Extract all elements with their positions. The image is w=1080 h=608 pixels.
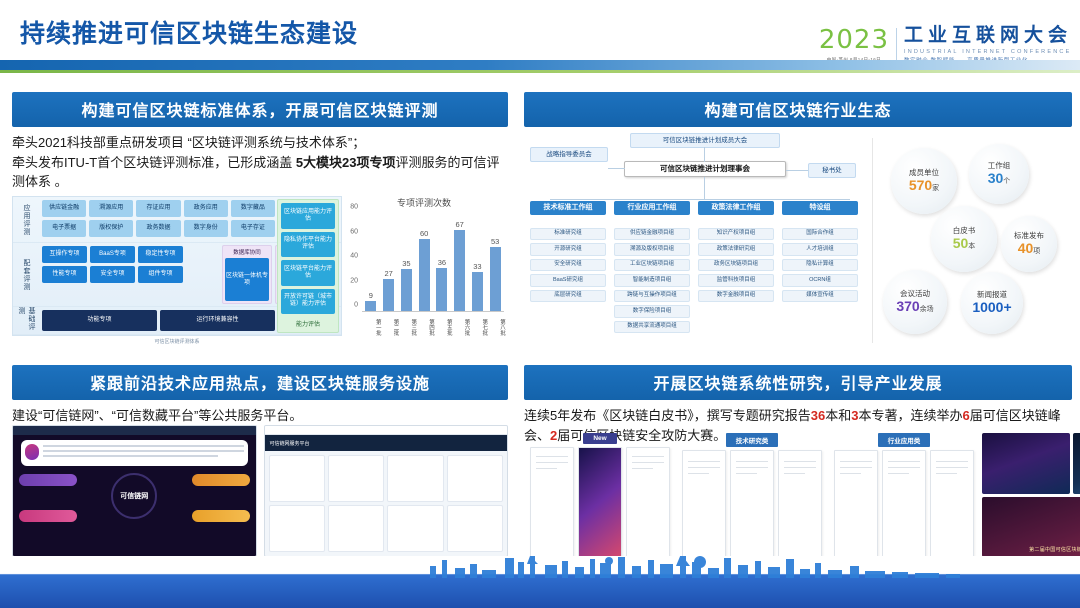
- panel-research-header: 开展区块链系统性研究，引导产业发展: [524, 365, 1072, 400]
- chart-bar-value: 67: [455, 220, 463, 229]
- chart-bar-column: 60: [415, 214, 433, 312]
- chart-y-tick: 60: [350, 228, 358, 235]
- skyline-icon: [0, 556, 1080, 608]
- matrix-caption: 可信区块链评测体系: [12, 338, 342, 345]
- chart-bar-value: 60: [420, 229, 428, 238]
- matrix-row-label: 基础评测: [13, 307, 39, 334]
- matrix-cell: 功能专项: [42, 310, 157, 331]
- matrix-row-label: 应用评测: [13, 197, 39, 242]
- matrix-cell: 电子存证: [231, 220, 275, 237]
- doc-cover[interactable]: [730, 450, 774, 557]
- org-group-item: 数字保险项目组: [614, 305, 690, 318]
- screenshot-node: [19, 510, 77, 522]
- stat-value: 50本: [953, 236, 976, 251]
- ability-item: 区块链应用能力评估: [281, 203, 335, 229]
- chart-y-tick: 40: [350, 253, 358, 260]
- logo-year: 2023: [819, 27, 889, 53]
- event-photo-caption: 第二届中国可信区块链安全攻防大赛: [982, 546, 1080, 553]
- matrix-cell: 运行环境兼容性: [160, 310, 275, 331]
- panel-ecosystem-header: 构建可信区块链行业生态: [524, 92, 1072, 127]
- chart-bar-value: 53: [491, 237, 499, 246]
- p4-a: 连续5年发布《区块链白皮书》，撰写专题研究报告: [524, 408, 811, 423]
- chart-bar-value: 9: [369, 291, 373, 300]
- matrix-cell: 数字藏品: [231, 200, 275, 217]
- research-outputs: New 技术研究类 行业应用类 第二届中国可信区块链安全攻防大赛: [530, 433, 1070, 557]
- ability-item: 隐私协作平台能力评估: [281, 232, 335, 258]
- chart-bar-value: 33: [473, 262, 481, 271]
- org-group-item: 智能制造项目组: [614, 274, 690, 287]
- panel-ecosystem: 构建可信区块链行业生态: [524, 92, 1072, 127]
- screenshot-avatar-icon: [25, 444, 39, 460]
- matrix-cell: 安全专项: [90, 266, 135, 283]
- org-group-item: 隐私计算组: [782, 259, 858, 272]
- evaluation-matrix: 应用评测 供应链金融 溯源应用 存证应用 政务应用 数字藏品 电子票据 版权保护…: [12, 196, 342, 336]
- org-group-item: 监管科技项目组: [698, 274, 774, 287]
- doc-cover[interactable]: [626, 447, 670, 557]
- screenshot-card: [328, 505, 384, 552]
- doc-row: [682, 450, 822, 557]
- chart-bar-column: 9: [362, 214, 380, 312]
- chart-title: 专项评测次数: [340, 196, 508, 209]
- matrix-row-label: 配套评测: [13, 243, 39, 306]
- screenshot-card: [328, 455, 384, 502]
- conference-logo: 2023 中国·苏州 8月14日-16日 工业互联网大会 INDUSTRIAL …: [819, 26, 1072, 64]
- matrix-cell: 政务应用: [184, 200, 228, 217]
- screenshot-titlebar: [13, 426, 256, 435]
- logo-year-block: 2023 中国·苏州 8月14日-16日: [819, 27, 889, 63]
- stat-unit: 个: [1003, 178, 1010, 185]
- matrix-cell: 存证应用: [136, 200, 180, 217]
- stat-label: 标准发布: [1014, 232, 1044, 240]
- p1-highlight: 5大模块23项专项: [296, 155, 396, 170]
- org-group-item: 国际合作组: [782, 228, 858, 241]
- stat-bubble: 白皮书50本: [931, 206, 997, 272]
- stat-unit: 余场: [920, 306, 934, 313]
- org-group-title: 技术标准工作组: [530, 201, 606, 215]
- screenshot-trusted-chain-network[interactable]: 可信链网: [12, 425, 257, 557]
- org-group-column: 政策法律工作组 知识产权项目组 政策法律研究组 政务区块链项目组 监管科技项目组…: [698, 211, 774, 302]
- p1-line2: 牵头发布ITU-T首个区块链评测标准，已形成涵盖: [12, 155, 296, 170]
- matrix-cell: 版权保护: [89, 220, 133, 237]
- org-group-item: 安全研究组: [530, 259, 606, 272]
- org-secretariat: 秘书处: [808, 163, 856, 178]
- chart-bar-value: 36: [438, 258, 446, 267]
- stat-value: 1000+: [972, 300, 1011, 315]
- stat-unit: 本: [968, 243, 975, 250]
- org-group-column: 技术标准工作组 标准研究组 开源研究组 安全研究组 BaaS研究组 底层研究组: [530, 211, 606, 302]
- screenshot-card: [269, 455, 325, 502]
- matrix-group-data-collab: 数据库协同 区块链一体机专项: [222, 245, 272, 304]
- doc-group-industry: 行业应用类: [834, 433, 974, 557]
- chart-bar-column: 35: [398, 214, 416, 312]
- org-connector: [550, 199, 850, 200]
- chart-x-tick: 第三批: [398, 312, 416, 342]
- panel-standards-body: 牵头2021科技部重点研发项目 “区块链评测系统与技术体系”； 牵头发布ITU-…: [12, 133, 508, 192]
- doc-row: [834, 450, 974, 557]
- screenshot-node: [192, 474, 250, 486]
- stat-unit: 项: [1033, 248, 1040, 255]
- stat-value: 40项: [1018, 241, 1041, 256]
- p1-line1: 牵头2021科技部重点研发项目 “区块链评测系统与技术体系”；: [12, 135, 365, 150]
- logo-cn-name: 工业互联网大会: [904, 26, 1072, 47]
- matrix-cell: 区块链一体机专项: [225, 258, 269, 301]
- org-group-column: 特设组 国际合作组 人才培训组 隐私计算组 OCRN组 媒体宣传组: [782, 211, 858, 302]
- page-title: 持续推进可信区块链生态建设: [20, 14, 358, 50]
- chart-y-tick: 0: [354, 302, 358, 309]
- screenshot-note-box: [21, 440, 248, 466]
- org-group-item: 政务区块链项目组: [698, 259, 774, 272]
- chart-bar-column: 67: [451, 214, 469, 312]
- tab-industry-application[interactable]: 行业应用类: [878, 433, 931, 447]
- footer-skyline: [0, 556, 1080, 608]
- event-photo[interactable]: 第二届中国可信区块链安全攻防大赛: [982, 497, 1080, 558]
- service-screenshots: 可信链网 可信链网服务平台: [12, 425, 508, 557]
- tab-new[interactable]: New: [583, 433, 616, 444]
- chart-x-tick: 第六批: [451, 312, 469, 342]
- stat-label: 成员单位: [909, 169, 939, 177]
- org-chart: 战略指导委员会 可信区块链推进计划成员大会 可信区块链推进计划理事会 秘书处 技…: [530, 133, 870, 348]
- doc-cover[interactable]: [930, 450, 974, 557]
- org-group-item: 人才培训组: [782, 243, 858, 256]
- org-group-item: 工业区块链项目组: [614, 259, 690, 272]
- org-group-item: 数字金融项目组: [698, 290, 774, 303]
- chart-bar: [454, 230, 465, 312]
- chart-plot-area: 927356036673353: [362, 214, 504, 312]
- panel-standards: 构建可信区块链标准体系，开展可信区块链评测 牵头2021科技部重点研发项目 “区…: [12, 92, 508, 192]
- stats-bubbles: 成员单位570家工作组30个白皮书50本标准发布40项会议活动370余场新闻报道…: [872, 138, 1072, 343]
- stat-bubble: 成员单位570家: [891, 148, 957, 214]
- screenshot-card: [387, 455, 443, 502]
- chart-bar: [401, 269, 412, 312]
- matrix-cell: 供应链金融: [42, 200, 86, 217]
- stat-bubble: 标准发布40项: [1001, 216, 1057, 272]
- org-strategy-committee: 战略指导委员会: [530, 147, 608, 162]
- matrix-cell: 性能专项: [42, 266, 87, 283]
- event-photo[interactable]: [1073, 433, 1080, 494]
- stat-value: 570家: [909, 178, 939, 193]
- screenshot-navbar: 可信链网服务平台: [265, 435, 508, 451]
- matrix-cell: 溯源应用: [89, 200, 133, 217]
- org-connector: [704, 147, 705, 162]
- panel-service-header: 紧跟前沿技术应用热点，建设区块链服务设施: [12, 365, 508, 400]
- org-group-item: 知识产权项目组: [698, 228, 774, 241]
- panel-service-body: 建设“可信链网”、“可信数藏平台”等公共服务平台。: [12, 406, 508, 426]
- matrix-cell: 政务数据: [136, 220, 180, 237]
- doc-cover[interactable]: [882, 450, 926, 557]
- org-connector: [704, 177, 705, 199]
- org-member-assembly: 可信区块链推进计划成员大会: [630, 133, 780, 148]
- org-group-item: 标准研究组: [530, 228, 606, 241]
- chart-x-axis: 第一批第二批第三批第四批第五批第六批第七批第八批: [362, 312, 504, 342]
- screenshot-titlebar: [265, 426, 508, 435]
- org-group-item: 政策法律研究组: [698, 243, 774, 256]
- p4-hl-36: 36: [811, 408, 825, 423]
- org-group-item: 跨链与互操作项目组: [614, 290, 690, 303]
- chart-x-tick: 第一批: [362, 312, 380, 342]
- stat-bubble: 工作组30个: [969, 144, 1029, 204]
- stat-label: 会议活动: [900, 290, 930, 298]
- screenshot-node: [192, 510, 250, 522]
- screenshot-card: [269, 505, 325, 552]
- chart-x-tick: 第四批: [415, 312, 433, 342]
- org-group-title: 行业应用工作组: [614, 201, 690, 215]
- chart-bar-column: 27: [380, 214, 398, 312]
- org-group-item: 数据共享流通项目组: [614, 321, 690, 334]
- matrix-cell: 互操作专项: [42, 246, 87, 263]
- chart-bar: [419, 239, 430, 313]
- doc-cover[interactable]: [578, 447, 622, 557]
- header-rule-blue: [0, 60, 1080, 70]
- org-group-item: 底层研究组: [530, 290, 606, 303]
- org-group-item: OCRN组: [782, 274, 858, 287]
- stat-unit: 家: [932, 185, 939, 192]
- org-group-item: 供应链金融项目组: [614, 228, 690, 241]
- chart-bar: [490, 247, 501, 312]
- chart-bar: [472, 272, 483, 312]
- chart-y-tick: 20: [350, 277, 358, 284]
- ability-item: 开放许可链（城市链）能力评估: [281, 289, 335, 315]
- doc-cover[interactable]: [778, 450, 822, 557]
- matrix-cell: 电子票据: [42, 220, 86, 237]
- chart-bar-column: 36: [433, 214, 451, 312]
- doc-cover[interactable]: [834, 450, 878, 557]
- doc-group-new: New: [530, 433, 670, 557]
- org-group-item: 开源研究组: [530, 243, 606, 256]
- ability-item: 区块链平台能力评估: [281, 260, 335, 286]
- logo-name-block: 工业互联网大会 INDUSTRIAL INTERNET CONFERENCE 数…: [904, 26, 1072, 64]
- matrix-cell: 数字身份: [184, 220, 228, 237]
- org-group-item: BaaS研究组: [530, 274, 606, 287]
- panel-standards-header: 构建可信区块链标准体系，开展可信区块链评测: [12, 92, 508, 127]
- screenshot-card: [447, 455, 503, 502]
- screenshot-card: [387, 505, 443, 552]
- stat-label: 新闻报道: [977, 291, 1007, 299]
- ability-group-title: 能力评估: [281, 317, 335, 329]
- screenshot-nav-label: 可信链网服务平台: [270, 440, 310, 447]
- org-group-title: 特设组: [782, 201, 858, 215]
- header-rule-green: [0, 70, 1080, 73]
- stat-bubble: 会议活动370余场: [883, 270, 947, 334]
- logo-en-name: INDUSTRIAL INTERNET CONFERENCE: [904, 49, 1072, 55]
- chart-bar: [436, 268, 447, 312]
- event-photos: 第二届中国可信区块链安全攻防大赛: [982, 433, 1080, 557]
- matrix-cell: 稳定性专项: [138, 246, 183, 263]
- screenshot-digital-collection-platform[interactable]: 可信链网服务平台: [264, 425, 509, 557]
- screenshot-card: [447, 505, 503, 552]
- matrix-ability-group: 区块链应用能力评估 隐私协作平台能力评估 区块链平台能力评估 开放许可链（城市链…: [277, 199, 339, 333]
- stat-bubble: 新闻报道1000+: [961, 272, 1023, 334]
- tab-tech-research[interactable]: 技术研究类: [726, 433, 779, 447]
- stat-value: 30个: [988, 171, 1011, 186]
- logo-divider: [896, 28, 897, 62]
- chart-bar-value: 35: [402, 259, 410, 268]
- stat-label: 白皮书: [953, 227, 976, 235]
- p4-b: 本和: [825, 408, 851, 423]
- org-group-column: 行业应用工作组 供应链金融项目组 溯源及版权项目组 工业区块链项目组 智能制造项…: [614, 211, 690, 333]
- screenshot-node: [19, 474, 77, 486]
- org-group-item: 媒体宣传组: [782, 290, 858, 303]
- matrix-cell: BaaS专项: [90, 246, 135, 263]
- doc-group-tech: 技术研究类: [682, 433, 822, 557]
- org-connector: [608, 168, 625, 169]
- chart-x-tick: 第二批: [380, 312, 398, 342]
- matrix-cell: 组件专项: [138, 266, 183, 283]
- chart-bars: 927356036673353: [362, 214, 504, 312]
- chart-bar-value: 27: [384, 269, 392, 278]
- screenshot-card-grid: [269, 455, 504, 552]
- p4-c: 本专著，连续举办: [858, 408, 962, 423]
- evaluation-chart: 专项评测次数 020406080 927356036673353 第一批第二批第…: [340, 196, 508, 342]
- chart-x-tick: 第五批: [433, 312, 451, 342]
- org-connector: [786, 170, 808, 171]
- chart-x-tick: 第七批: [469, 312, 487, 342]
- org-council: 可信区块链推进计划理事会: [624, 161, 786, 177]
- chart-bar: [383, 279, 394, 312]
- chart-x-tick: 第八批: [486, 312, 504, 342]
- stat-value: 370余场: [896, 299, 933, 314]
- doc-row: [530, 447, 670, 557]
- org-group-item: 溯源及版权项目组: [614, 243, 690, 256]
- org-group-title: 政策法律工作组: [698, 201, 774, 215]
- stat-label: 工作组: [988, 162, 1011, 170]
- chart-bar-column: 33: [469, 214, 487, 312]
- doc-cover[interactable]: [682, 450, 726, 557]
- panel-service: 紧跟前沿技术应用热点，建设区块链服务设施 建设“可信链网”、“可信数藏平台”等公…: [12, 365, 508, 426]
- doc-cover[interactable]: [530, 447, 574, 557]
- chart-y-axis: 020406080: [340, 214, 360, 312]
- event-photo[interactable]: [982, 433, 1070, 494]
- chart-bar-column: 53: [486, 214, 504, 312]
- matrix-group-title: 数据库协同: [225, 248, 269, 256]
- chart-y-tick: 80: [350, 204, 358, 211]
- p4-hl-6: 6: [962, 408, 969, 423]
- screenshot-center-label: 可信链网: [120, 491, 148, 501]
